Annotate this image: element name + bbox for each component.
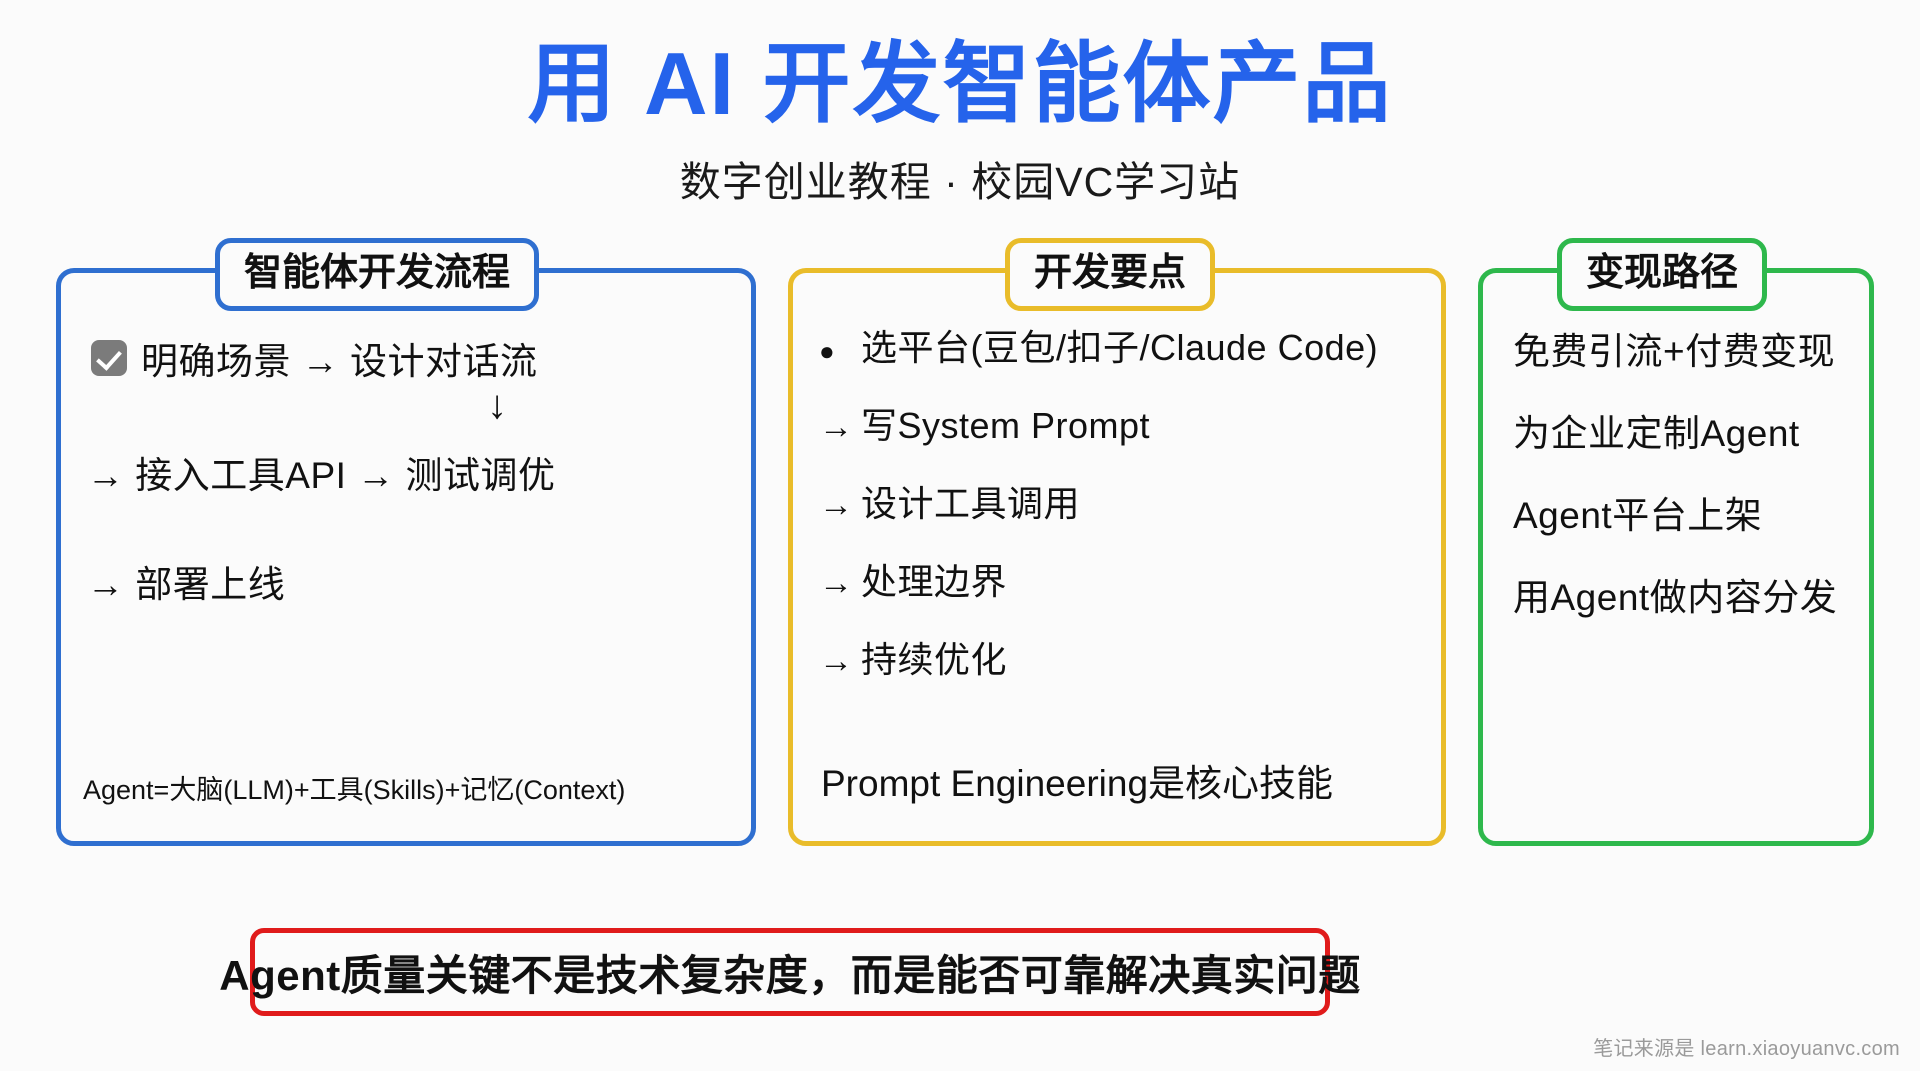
- list-item: → 持续优化: [819, 631, 1378, 683]
- key-takeaway-banner: Agent质量关键不是技术复杂度，而是能否可靠解决真实问题: [250, 928, 1330, 1016]
- list-item: → 设计工具调用: [819, 475, 1378, 527]
- card-body-dev-key-points: ● 选平台(豆包/扣子/Claude Code) → 写System Promp…: [793, 273, 1441, 841]
- list-item-label: 写System Prompt: [861, 397, 1150, 449]
- list-item: 为企业定制Agent: [1513, 403, 1837, 457]
- flow-step-row-1-label: 明确场景 → 设计对话流: [141, 331, 538, 385]
- list-item-label: 处理边界: [861, 553, 1007, 605]
- cards-row: 智能体开发流程 明确场景 → 设计对话流 ↓ → 接入工具API → 测试调优 …: [0, 268, 1920, 878]
- page-header: 用 AI 开发智能体产品 数字创业教程 · 校园VC学习站: [0, 0, 1920, 208]
- card-body-monetization-paths: 免费引流+付费变现 为企业定制Agent Agent平台上架 用Agent做内容…: [1483, 273, 1869, 841]
- list-item-label: 持续优化: [861, 631, 1007, 683]
- flow-step-row-1: 明确场景 → 设计对话流: [91, 331, 538, 385]
- list-item: → 写System Prompt: [819, 397, 1378, 449]
- monetization-paths-list: 免费引流+付费变现 为企业定制Agent Agent平台上架 用Agent做内容…: [1513, 321, 1837, 649]
- list-item: ● 选平台(豆包/扣子/Claude Code): [819, 319, 1378, 371]
- bullet-icon: ●: [819, 338, 861, 364]
- list-item-label: 设计工具调用: [861, 475, 1080, 527]
- list-item: Agent平台上架: [1513, 485, 1837, 539]
- key-takeaway-text: Agent质量关键不是技术复杂度，而是能否可靠解决真实问题: [219, 942, 1361, 1003]
- list-item-label: 选平台(豆包/扣子/Claude Code): [861, 319, 1378, 371]
- list-item: 免费引流+付费变现: [1513, 321, 1837, 375]
- list-item: 用Agent做内容分发: [1513, 567, 1837, 621]
- card-agent-dev-flow: 智能体开发流程 明确场景 → 设计对话流 ↓ → 接入工具API → 测试调优 …: [56, 268, 756, 846]
- flow-step-row-2: → 接入工具API → 测试调优: [87, 445, 555, 499]
- agent-formula-footnote: Agent=大脑(LLM)+工具(Skills)+记忆(Context): [83, 768, 625, 807]
- source-watermark: 笔记来源是 learn.xiaoyuanvc.com: [1593, 1032, 1900, 1061]
- card-body-agent-dev-flow: 明确场景 → 设计对话流 ↓ → 接入工具API → 测试调优 → 部署上线 A…: [61, 273, 751, 841]
- page-title: 用 AI 开发智能体产品: [0, 0, 1920, 130]
- card-dev-key-points: 开发要点 ● 选平台(豆包/扣子/Claude Code) → 写System …: [788, 268, 1446, 846]
- checkbox-checked-icon: [91, 340, 127, 376]
- down-arrow-icon: ↓: [487, 385, 507, 425]
- card-monetization-paths: 变现路径 免费引流+付费变现 为企业定制Agent Agent平台上架 用Age…: [1478, 268, 1874, 846]
- arrow-right-icon: →: [819, 410, 861, 444]
- dev-key-points-list: ● 选平台(豆包/扣子/Claude Code) → 写System Promp…: [819, 319, 1378, 709]
- flow-step-row-3: → 部署上线: [87, 554, 285, 608]
- arrow-right-icon: →: [819, 644, 861, 678]
- list-item: → 处理边界: [819, 553, 1378, 605]
- arrow-right-icon: →: [819, 566, 861, 600]
- arrow-right-icon: →: [819, 488, 861, 522]
- prompt-engineering-footer: Prompt Engineering是核心技能: [821, 753, 1333, 807]
- page-subtitle: 数字创业教程 · 校园VC学习站: [0, 130, 1920, 208]
